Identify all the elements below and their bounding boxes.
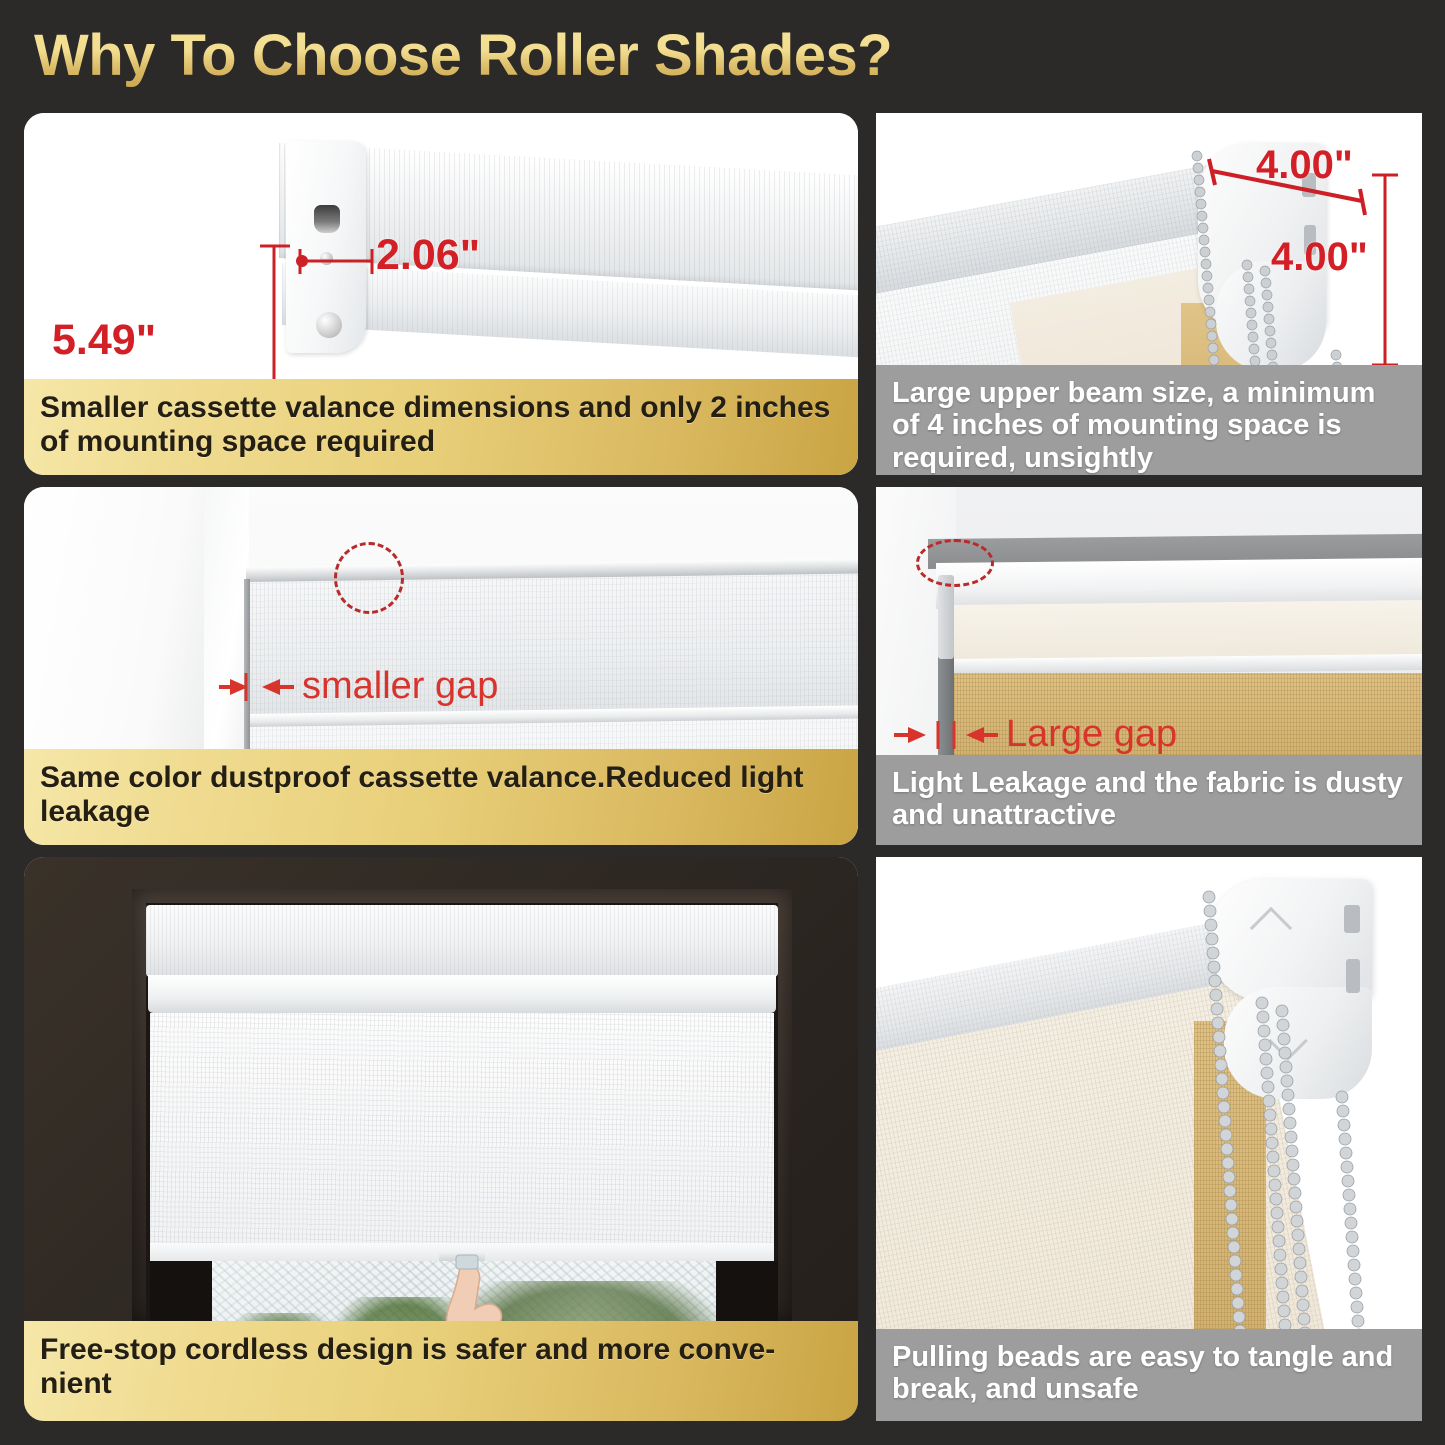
panel-caption: Pulling beads are easy to tangle and bre…: [876, 1329, 1422, 1421]
height-dimension-label: 5.49": [52, 316, 156, 365]
panel-caption: Same color dustproof cassette valance.Re…: [24, 749, 858, 845]
panel-cassette-dimensions: 2.06" 5.49" Smaller cassette valance dim…: [24, 113, 858, 475]
panel-smaller-gap: smaller gap Same color dustproof cassett…: [24, 487, 858, 845]
gap-callout-label: Large gap: [1006, 713, 1177, 756]
panel-caption: Smaller cassette valance dimensions and …: [24, 379, 858, 475]
gap-callout-label: smaller gap: [302, 665, 498, 708]
panel-caption: Free-stop cordless design is safer and m…: [24, 1321, 858, 1421]
panel-large-beam-dimensions: 4.00" 4.00" Large upper beam size, a min…: [876, 113, 1422, 475]
infographic-page: Why To Choose Roller Shades?: [0, 0, 1445, 1445]
panel-large-gap: Large gap Light Leakage and the fabric i…: [876, 487, 1422, 845]
panel-cordless-window: Free-stop cordless design is safer and m…: [24, 857, 858, 1421]
panel-pulling-beads: Pulling beads are easy to tangle and bre…: [876, 857, 1422, 1421]
width-dimension-label: 4.00": [1256, 143, 1353, 188]
panel-caption: Light Leakage and the fabric is dusty an…: [876, 755, 1422, 845]
panel-caption: Large upper beam size, a minimum of 4 in…: [876, 365, 1422, 475]
height-dimension-label: 4.00": [1271, 235, 1368, 280]
page-title: Why To Choose Roller Shades?: [34, 22, 892, 89]
width-dimension-label: 2.06": [376, 231, 480, 280]
